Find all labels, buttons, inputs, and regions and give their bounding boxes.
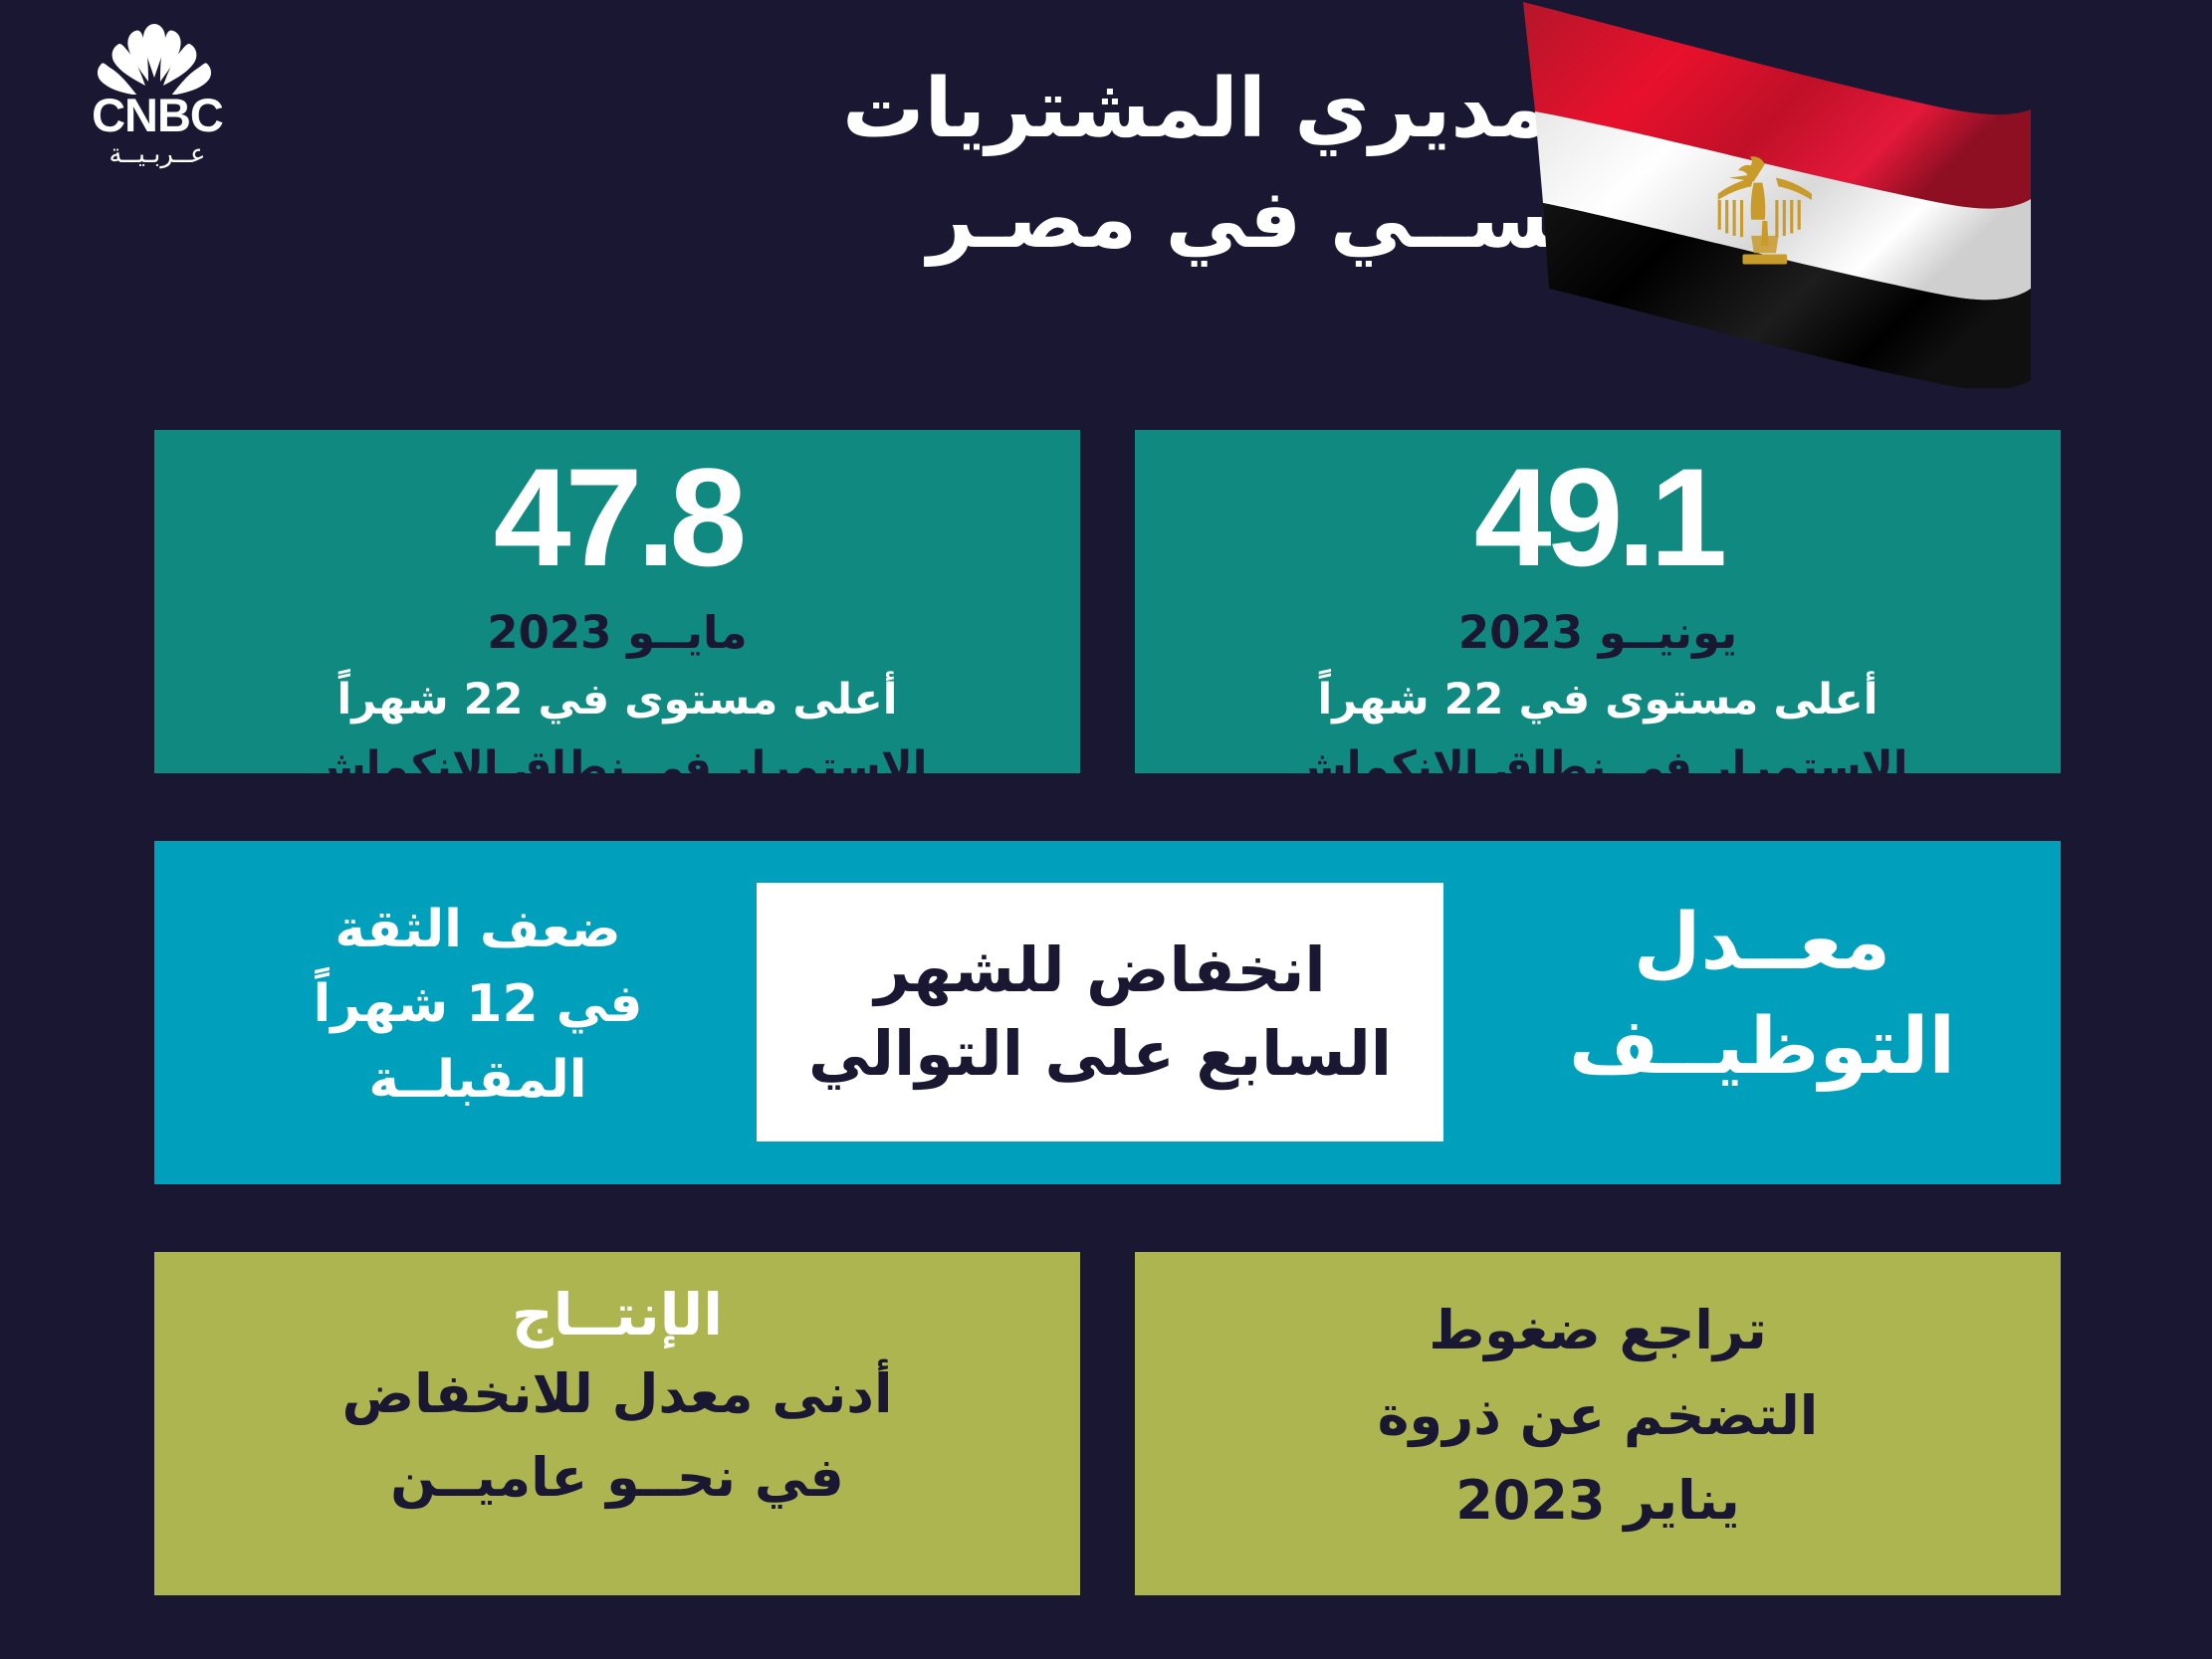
employment-confidence-line-2: في 12 شهراً (209, 967, 747, 1042)
pmi-note-may-1: أعلى مستوى في 22 شهراً (154, 673, 1080, 728)
card-inflation: تراجع ضغوط التضخم عن ذروة يناير 2023 (1135, 1252, 2061, 1595)
inflation-body-line-1: تراجع ضغوط (1135, 1290, 2061, 1370)
peacock-icon (90, 20, 219, 95)
employment-callout-text: انخفاض للشهر السابع على التوالي (808, 929, 1392, 1095)
cnbc-wordmark: CNBC (68, 92, 247, 138)
card-production: الإنتــاج أدنى معدل للانخفاض في نحــو عا… (154, 1252, 1080, 1595)
infographic-root: CNBC عــربـيــة مؤشر مديري المشتريات الر… (0, 0, 2212, 1659)
employment-confidence-note: ضعف الثقة في 12 شهراً المقبلــة (209, 893, 747, 1118)
employment-confidence-line-1: ضعف الثقة (209, 893, 747, 967)
inflation-body-line-3: يناير 2023 (1135, 1463, 2061, 1540)
employment-callout-box: انخفاض للشهر السابع على التوالي (757, 883, 1443, 1141)
pmi-note-june-1: أعلى مستوى في 22 شهراً (1135, 673, 2061, 728)
egypt-flag (1513, 0, 2110, 388)
pmi-value-june: 49.1 (1135, 448, 2061, 587)
pmi-note-may-2: الاستمرار في نطاق الانكماش (154, 740, 1080, 796)
pmi-value-may: 47.8 (154, 448, 1080, 587)
cnbc-arabic-wordmark: عــربـيــة (68, 141, 247, 167)
employment-callout-line-1: انخفاض للشهر (808, 929, 1392, 1012)
production-title: الإنتــاج (154, 1282, 1080, 1348)
pmi-month-june: يونيــو 2023 (1135, 605, 2061, 661)
production-body-line-2: في نحــو عاميــن (154, 1440, 1080, 1517)
egypt-flag-icon (1513, 0, 2110, 388)
employment-label: معــدل التوظيــف (1503, 891, 2021, 1101)
pmi-month-may: مايــو 2023 (154, 605, 1080, 661)
employment-label-line-1: معــدل (1503, 891, 2021, 995)
card-employment: معــدل التوظيــف انخفاض للشهر السابع على… (154, 841, 2061, 1184)
inflation-body-line-2: التضخم عن ذروة (1135, 1378, 2061, 1455)
cnbc-arabia-logo: CNBC عــربـيــة (40, 20, 269, 179)
employment-confidence-line-3: المقبلــة (209, 1043, 747, 1118)
employment-callout-line-2: السابع على التوالي (808, 1012, 1392, 1096)
card-pmi-june: 49.1 يونيــو 2023 أعلى مستوى في 22 شهراً… (1135, 430, 2061, 773)
card-pmi-may: 47.8 مايــو 2023 أعلى مستوى في 22 شهراً … (154, 430, 1080, 773)
pmi-note-june-2: الاستمرار في نطاق الانكماش (1135, 740, 2061, 796)
header: CNBC عــربـيــة مؤشر مديري المشتريات الر… (0, 0, 2212, 408)
employment-label-line-2: التوظيــف (1503, 995, 2021, 1100)
production-body-line-1: أدنى معدل للانخفاض (154, 1356, 1080, 1433)
